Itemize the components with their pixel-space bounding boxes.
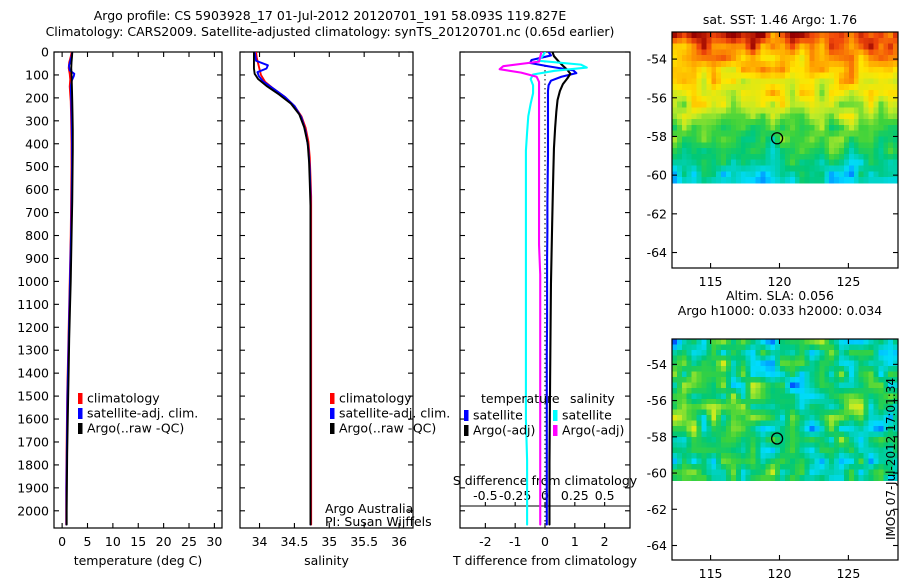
map-cell	[706, 102, 712, 108]
map-cell	[888, 61, 894, 67]
map-cell	[810, 410, 816, 416]
map-cell	[869, 459, 875, 465]
map-cell	[795, 154, 801, 160]
map-cell	[756, 442, 762, 448]
map-cell	[756, 67, 762, 73]
map-cell	[800, 453, 806, 459]
map-cell	[672, 350, 678, 356]
map-cell	[834, 410, 840, 416]
map-cell	[839, 113, 845, 119]
map-cell	[834, 415, 840, 421]
map-cell	[790, 73, 796, 79]
map-cell	[711, 415, 717, 421]
map-cell	[790, 67, 796, 73]
map-cell	[731, 421, 737, 427]
map-cell	[706, 107, 712, 113]
map-cell	[859, 339, 865, 345]
map-cell	[751, 415, 757, 421]
map-cell	[814, 459, 820, 465]
map-cell	[785, 442, 791, 448]
map-cell	[819, 90, 825, 96]
map-cell	[795, 421, 801, 427]
map-cell	[780, 160, 786, 166]
map-cell	[746, 404, 752, 410]
map-cell	[824, 32, 830, 38]
map-cell	[790, 49, 796, 55]
map-cell	[780, 61, 786, 67]
map-cell	[760, 142, 766, 148]
map-cell	[849, 142, 855, 148]
map-cell	[869, 442, 875, 448]
map-cell	[819, 84, 825, 90]
map-cell	[854, 339, 860, 345]
map-cell	[756, 165, 762, 171]
map-cell	[697, 107, 703, 113]
map-cell	[869, 421, 875, 427]
map-cell	[878, 131, 884, 137]
map-cell	[711, 382, 717, 388]
map-cell	[834, 136, 840, 142]
map-cell	[706, 393, 712, 399]
map-cell	[711, 44, 717, 50]
map-cell	[805, 107, 811, 113]
map-cell	[810, 437, 816, 443]
map-cell	[716, 67, 722, 73]
map-cell	[721, 393, 727, 399]
map-cell	[883, 90, 889, 96]
map-cell	[883, 344, 889, 350]
map-cell	[765, 136, 771, 142]
map-cell	[800, 393, 806, 399]
map-cell	[706, 355, 712, 361]
map-cell	[697, 113, 703, 119]
map-cell	[780, 382, 786, 388]
map-cell	[854, 448, 860, 454]
map-cell	[790, 113, 796, 119]
map-cell	[770, 67, 776, 73]
map-cell	[805, 361, 811, 367]
sst-map[interactable]: -54-56-58-60-62-64115120125	[630, 20, 900, 290]
map-cell	[672, 388, 678, 394]
map-cell	[829, 437, 835, 443]
map-cell	[795, 113, 801, 119]
lon-tick-label: 120	[768, 274, 792, 289]
map-cell	[805, 142, 811, 148]
map-cell	[810, 49, 816, 55]
map-cell	[829, 464, 835, 470]
map-cell	[697, 119, 703, 125]
map-cell	[697, 61, 703, 67]
map-cell	[760, 393, 766, 399]
map-cell	[819, 344, 825, 350]
map-cell	[721, 475, 727, 481]
map-cell	[731, 442, 737, 448]
map-cell	[736, 469, 742, 475]
map-cell	[760, 84, 766, 90]
map-cell	[859, 148, 865, 154]
map-cell	[873, 171, 879, 177]
map-cell	[721, 119, 727, 125]
map-cell	[746, 90, 752, 96]
map-cell	[869, 73, 875, 79]
map-cell	[701, 393, 707, 399]
map-cell	[849, 475, 855, 481]
map-cell	[859, 78, 865, 84]
map-cell	[697, 32, 703, 38]
map-cell	[741, 154, 747, 160]
map-cell	[824, 459, 830, 465]
map-cell	[859, 67, 865, 73]
map-cell	[805, 61, 811, 67]
map-cell	[819, 113, 825, 119]
map-cell	[888, 372, 894, 378]
map-cell	[751, 372, 757, 378]
map-cell	[869, 61, 875, 67]
map-cell	[829, 73, 835, 79]
map-cell	[824, 154, 830, 160]
map-cell	[859, 142, 865, 148]
map-cell	[751, 73, 757, 79]
map-cell	[677, 344, 683, 350]
map-cell	[839, 355, 845, 361]
map-cell	[834, 388, 840, 394]
map-cell	[805, 55, 811, 61]
map-cell	[682, 442, 688, 448]
map-cell	[819, 73, 825, 79]
map-cell	[756, 399, 762, 405]
map-cell	[805, 44, 811, 50]
map-cell	[790, 459, 796, 465]
map-cell	[731, 448, 737, 454]
map-cell	[775, 160, 781, 166]
map-cell	[770, 171, 776, 177]
map-cell	[731, 49, 737, 55]
map-cell	[751, 102, 757, 108]
map-cell	[790, 61, 796, 67]
sla-map[interactable]: -54-56-58-60-62-64115120125	[630, 315, 900, 580]
map-cell	[814, 421, 820, 427]
map-cell	[751, 148, 757, 154]
map-cell	[824, 393, 830, 399]
map-cell	[839, 377, 845, 383]
map-cell	[751, 136, 757, 142]
map-cell	[706, 366, 712, 372]
map-cell	[824, 131, 830, 137]
map-cell	[844, 421, 850, 427]
map-cell	[810, 165, 816, 171]
map-cell	[716, 448, 722, 454]
map-cell	[751, 448, 757, 454]
map-cell	[795, 366, 801, 372]
map-cell	[760, 410, 766, 416]
map-cell	[736, 113, 742, 119]
map-cell	[878, 38, 884, 44]
map-cell	[672, 355, 678, 361]
map-cell	[859, 410, 865, 416]
map-cell	[819, 410, 825, 416]
map-cell	[829, 171, 835, 177]
map-cell	[677, 393, 683, 399]
map-cell	[844, 399, 850, 405]
map-cell	[726, 350, 732, 356]
map-cell	[834, 437, 840, 443]
map-cell	[716, 350, 722, 356]
map-cell	[854, 96, 860, 102]
map-cell	[878, 84, 884, 90]
map-cell	[824, 339, 830, 345]
map-cell	[711, 32, 717, 38]
map-cell	[805, 426, 811, 432]
map-cell	[677, 96, 683, 102]
map-cell	[746, 84, 752, 90]
map-cell	[785, 393, 791, 399]
map-cell	[741, 90, 747, 96]
map-cell	[775, 415, 781, 421]
map-cell	[844, 131, 850, 137]
map-cell	[785, 410, 791, 416]
map-cell	[770, 165, 776, 171]
map-cell	[731, 67, 737, 73]
map-cell	[687, 125, 693, 131]
map-cell	[672, 437, 678, 443]
map-cell	[810, 32, 816, 38]
map-cell	[839, 84, 845, 90]
map-cell	[795, 165, 801, 171]
map-cell	[775, 78, 781, 84]
map-cell	[829, 469, 835, 475]
map-cell	[785, 399, 791, 405]
map-cell	[780, 372, 786, 378]
map-cell	[883, 177, 889, 183]
map-cell	[697, 84, 703, 90]
map-cell	[785, 67, 791, 73]
map-cell	[824, 61, 830, 67]
lon-tick-label: 115	[699, 566, 723, 580]
map-cell	[711, 393, 717, 399]
map-cell	[687, 142, 693, 148]
map-cell	[731, 107, 737, 113]
lon-tick-label: 125	[836, 274, 860, 289]
map-cell	[849, 32, 855, 38]
map-cell	[780, 148, 786, 154]
map-cell	[839, 49, 845, 55]
map-cell	[844, 388, 850, 394]
map-cell	[859, 73, 865, 79]
map-cell	[834, 125, 840, 131]
map-cell	[800, 113, 806, 119]
map-cell	[716, 96, 722, 102]
map-cell	[770, 102, 776, 108]
map-cell	[711, 339, 717, 345]
map-cell	[873, 388, 879, 394]
map-cell	[873, 350, 879, 356]
map-cell	[819, 44, 825, 50]
map-cell	[878, 78, 884, 84]
map-cell	[834, 355, 840, 361]
map-cell	[765, 426, 771, 432]
map-cell	[888, 96, 894, 102]
map-cell	[716, 382, 722, 388]
map-cell	[682, 366, 688, 372]
map-cell	[814, 107, 820, 113]
map-cell	[731, 388, 737, 394]
map-cell	[814, 78, 820, 84]
diff-legend-temp-label: satellite	[473, 408, 523, 423]
map-cell	[682, 148, 688, 154]
map-cell	[844, 67, 850, 73]
map-cell	[706, 96, 712, 102]
map-cell	[716, 125, 722, 131]
map-cell	[706, 49, 712, 55]
map-cell	[731, 361, 737, 367]
map-cell	[859, 350, 865, 356]
map-cell	[697, 67, 703, 73]
map-cell	[849, 464, 855, 470]
map-cell	[721, 160, 727, 166]
map-cell	[824, 113, 830, 119]
difference-panel[interactable]: -2-1012T difference from climatology-0.5…	[0, 0, 660, 580]
map-cell	[800, 355, 806, 361]
map-cell	[716, 177, 722, 183]
map-cell	[810, 366, 816, 372]
map-cell	[687, 388, 693, 394]
map-cell	[839, 148, 845, 154]
map-cell	[854, 136, 860, 142]
map-cell	[672, 84, 678, 90]
map-cell	[834, 131, 840, 137]
map-cell	[824, 84, 830, 90]
map-cell	[878, 44, 884, 50]
map-cell	[701, 90, 707, 96]
map-cell	[697, 426, 703, 432]
map-cell	[760, 44, 766, 50]
map-cell	[814, 355, 820, 361]
map-cell	[864, 160, 870, 166]
map-cell	[888, 165, 894, 171]
map-cell	[775, 67, 781, 73]
map-cell	[824, 102, 830, 108]
map-cell	[795, 171, 801, 177]
map-cell	[805, 113, 811, 119]
map-cell	[814, 404, 820, 410]
map-cell	[770, 61, 776, 67]
map-cell	[760, 171, 766, 177]
map-cell	[736, 475, 742, 481]
map-cell	[888, 67, 894, 73]
map-cell	[756, 107, 762, 113]
map-cell	[810, 404, 816, 410]
map-cell	[765, 464, 771, 470]
map-cell	[716, 388, 722, 394]
map-cell	[687, 131, 693, 137]
map-cell	[672, 49, 678, 55]
map-cell	[878, 90, 884, 96]
map-cell	[687, 61, 693, 67]
map-cell	[726, 90, 732, 96]
map-cell	[785, 136, 791, 142]
map-cell	[814, 73, 820, 79]
map-cell	[785, 119, 791, 125]
map-cell	[795, 393, 801, 399]
map-cell	[834, 469, 840, 475]
map-cell	[687, 73, 693, 79]
map-cell	[746, 448, 752, 454]
map-cell	[751, 393, 757, 399]
map-cell	[810, 171, 816, 177]
map-cell	[864, 377, 870, 383]
map-cell	[741, 107, 747, 113]
map-cell	[672, 366, 678, 372]
map-cell	[770, 119, 776, 125]
map-cell	[839, 415, 845, 421]
map-cell	[805, 410, 811, 416]
map-cell	[814, 464, 820, 470]
map-cell	[682, 410, 688, 416]
map-cell	[844, 160, 850, 166]
map-cell	[731, 113, 737, 119]
map-cell	[888, 119, 894, 125]
map-cell	[760, 382, 766, 388]
map-cell	[780, 67, 786, 73]
map-cell	[864, 125, 870, 131]
map-cell	[775, 165, 781, 171]
map-cell	[682, 404, 688, 410]
map-cell	[736, 399, 742, 405]
map-cell	[736, 437, 742, 443]
map-cell	[824, 171, 830, 177]
map-cell	[795, 355, 801, 361]
map-cell	[731, 377, 737, 383]
map-cell	[888, 113, 894, 119]
map-cell	[741, 32, 747, 38]
map-cell	[672, 344, 678, 350]
map-cell	[731, 160, 737, 166]
map-cell	[692, 148, 698, 154]
map-cell	[819, 67, 825, 73]
map-cell	[731, 437, 737, 443]
map-cell	[795, 437, 801, 443]
map-cell	[760, 119, 766, 125]
map-cell	[829, 453, 835, 459]
map-cell	[824, 464, 830, 470]
map-cell	[775, 469, 781, 475]
map-cell	[780, 453, 786, 459]
map-cell	[869, 119, 875, 125]
map-cell	[869, 372, 875, 378]
map-cell	[849, 73, 855, 79]
map-cell	[726, 469, 732, 475]
map-cell	[844, 469, 850, 475]
map-cell	[701, 453, 707, 459]
map-cell	[751, 459, 757, 465]
map-cell	[736, 67, 742, 73]
map-cell	[716, 61, 722, 67]
map-cell	[839, 90, 845, 96]
map-cell	[780, 78, 786, 84]
map-cell	[770, 177, 776, 183]
map-cell	[873, 464, 879, 470]
map-cell	[721, 107, 727, 113]
map-cell	[824, 38, 830, 44]
map-cell	[731, 426, 737, 432]
map-cell	[819, 372, 825, 378]
map-cell	[687, 84, 693, 90]
map-cell	[701, 355, 707, 361]
map-cell	[677, 382, 683, 388]
map-cell	[672, 136, 678, 142]
map-cell	[731, 431, 737, 437]
map-cell	[721, 382, 727, 388]
